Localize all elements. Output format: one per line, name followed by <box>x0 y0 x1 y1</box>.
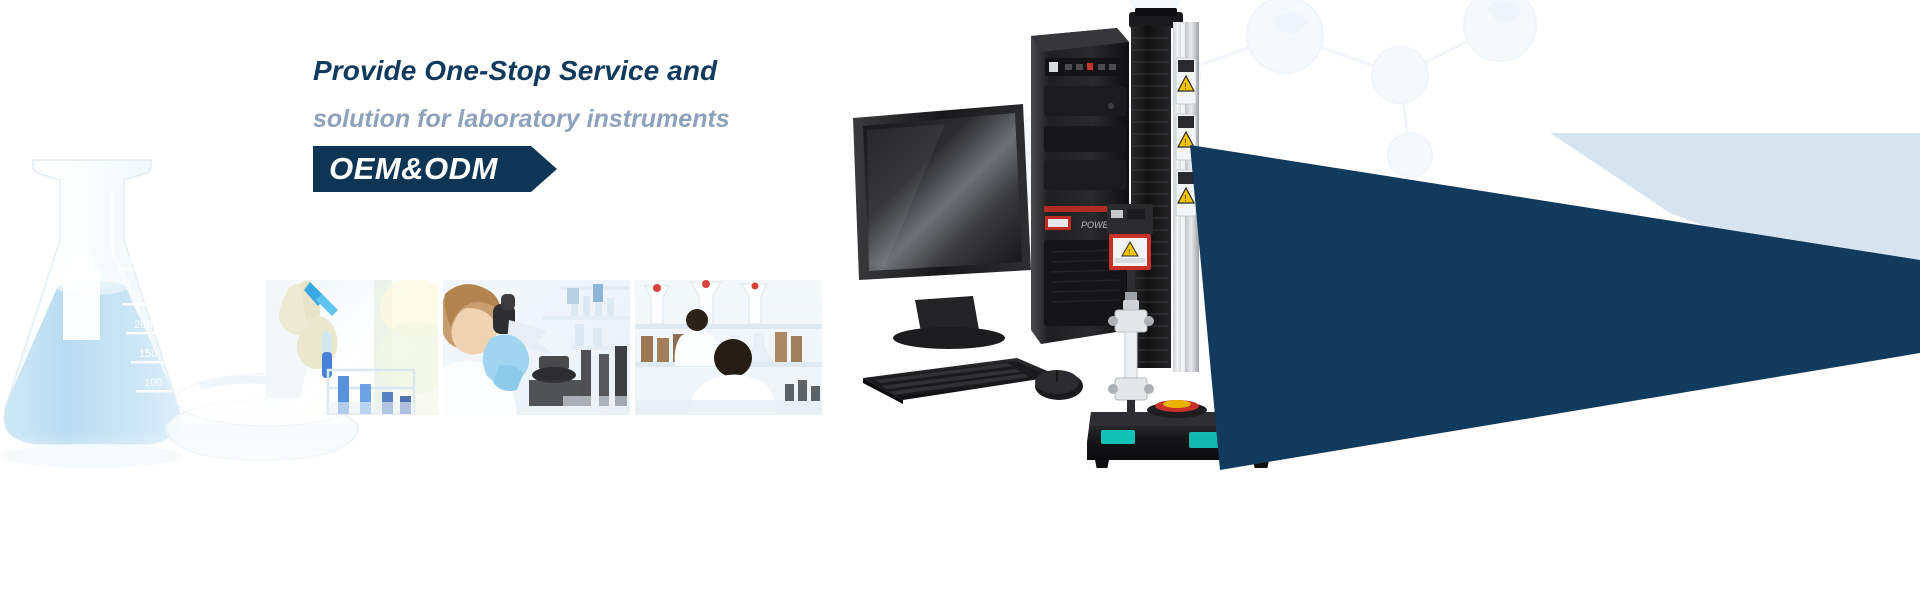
svg-text:300: 300 <box>126 255 144 267</box>
svg-text:!: ! <box>1184 82 1186 91</box>
keyboard <box>863 358 1059 404</box>
mouse <box>1035 370 1083 400</box>
hero-banner: 300 250 200 150 100 mL Provide One-Stop … <box>0 0 1920 597</box>
photo-microscope <box>443 280 630 415</box>
photo-pipetting <box>266 280 438 415</box>
desktop-monitor <box>853 104 1031 349</box>
oem-odm-badge: OEM&ODM <box>313 146 563 192</box>
photo-strip <box>266 280 822 415</box>
svg-text:100: 100 <box>144 377 162 389</box>
svg-text:!: ! <box>1184 138 1186 147</box>
flask-body <box>4 160 179 444</box>
load-cell-crosshead: ! <box>1107 204 1153 270</box>
photo-lab-team <box>635 280 822 415</box>
svg-text:200: 200 <box>134 319 152 331</box>
svg-text:250: 250 <box>130 290 148 302</box>
badge-label: OEM&ODM <box>329 152 498 186</box>
arrow-graphics <box>1190 100 1920 480</box>
svg-text:150: 150 <box>139 348 157 360</box>
svg-text:!: ! <box>1128 249 1130 256</box>
svg-text:!: ! <box>1184 194 1186 203</box>
svg-text:mL: mL <box>82 285 99 299</box>
